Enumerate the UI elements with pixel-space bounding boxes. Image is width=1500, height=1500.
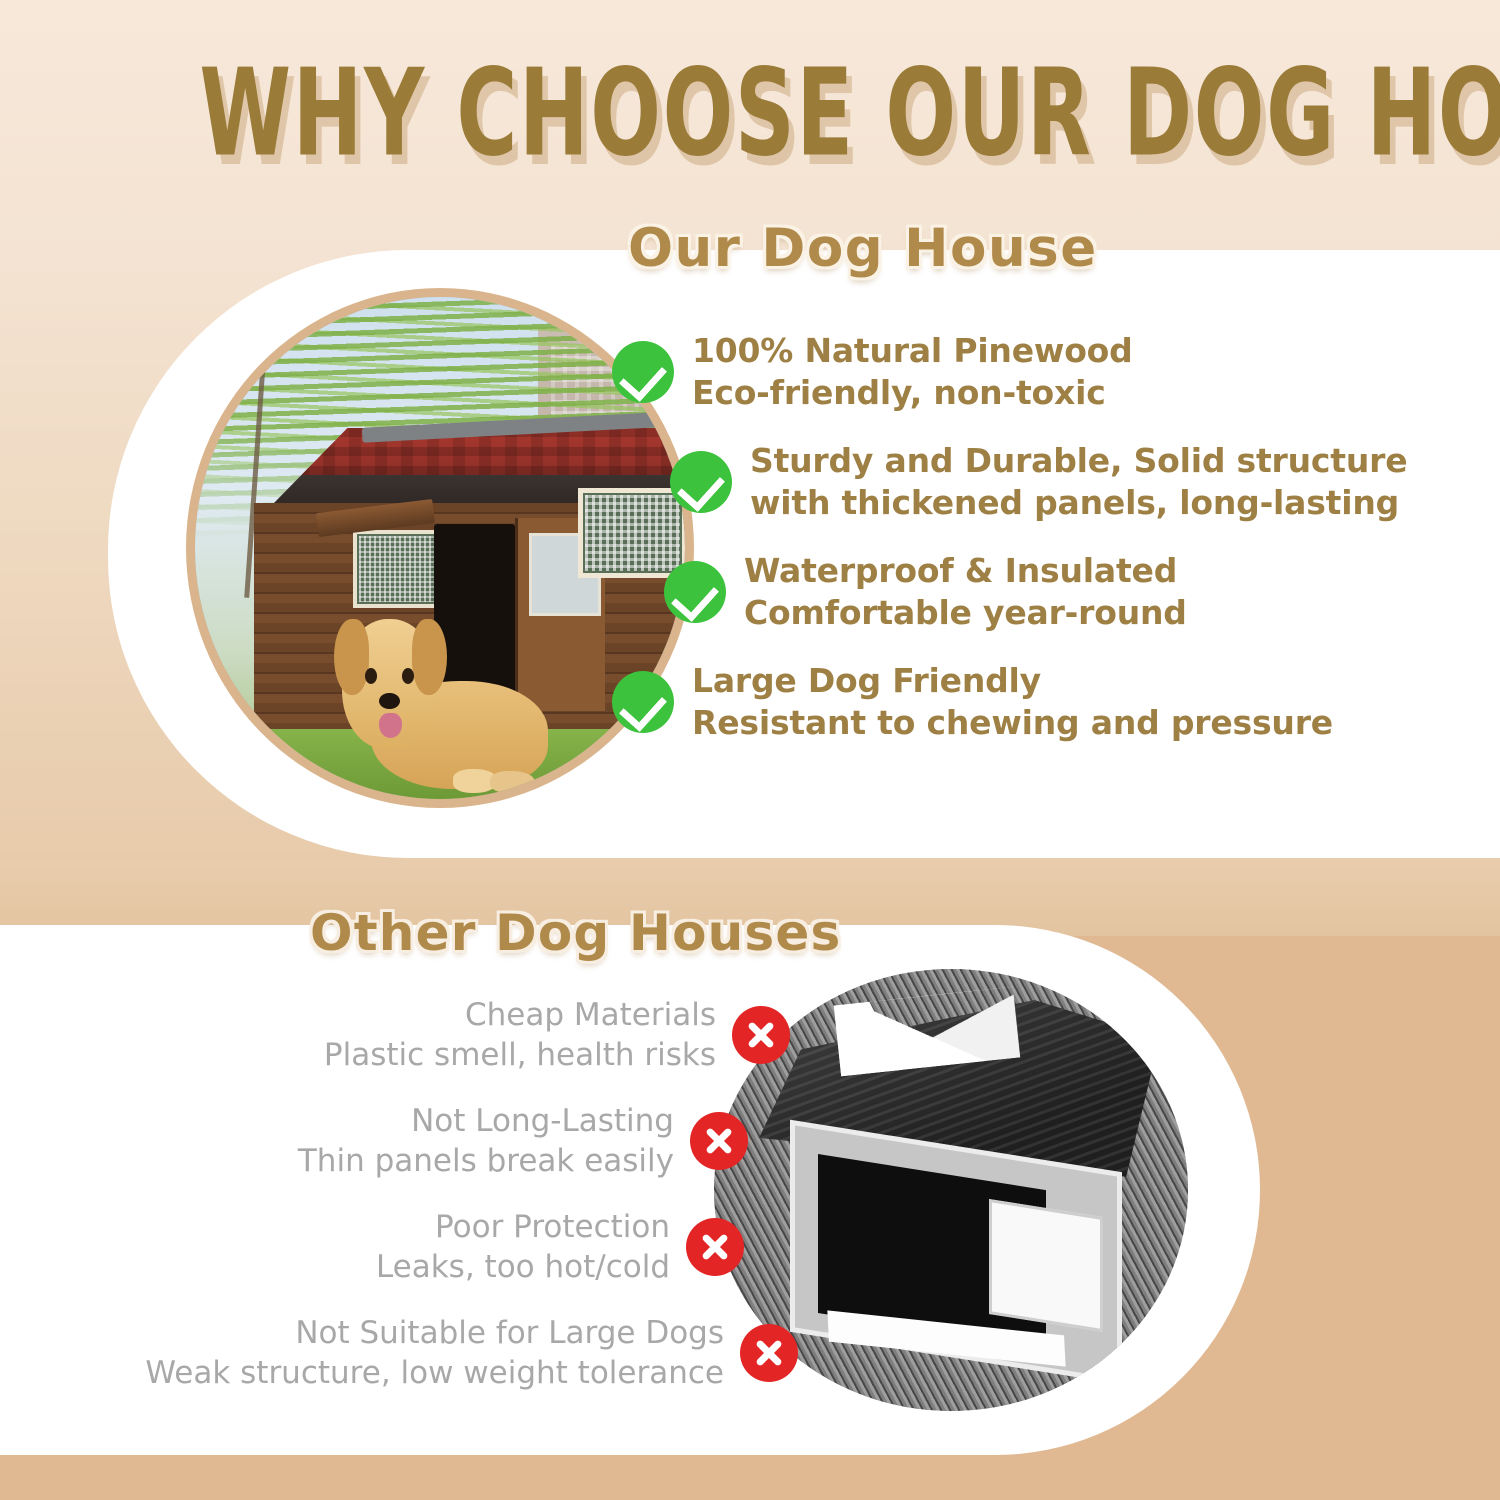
drawback-line-1: Not Long-Lasting	[411, 1103, 674, 1139]
our-dog-house-heading: Our Dog House	[628, 218, 1148, 288]
list-item: Sturdy and Durable, Solid structure with…	[612, 440, 1442, 524]
dog-eye-left	[365, 668, 377, 684]
list-item: Not Suitable for Large Dogs Weak structu…	[120, 1313, 820, 1393]
dog-ear-right	[412, 619, 447, 695]
check-icon	[664, 561, 726, 623]
page-title-text: WHY CHOOSE OUR DOG HOUSE?"	[199, 48, 1500, 178]
drawback-line-2: Thin panels break easily	[298, 1143, 674, 1179]
check-icon	[670, 451, 732, 513]
list-item: Large Dog Friendly Resistant to chewing …	[612, 660, 1442, 744]
dog-tongue	[379, 713, 402, 738]
other-drawbacks-list: Cheap Materials Plastic smell, health ri…	[120, 995, 820, 1393]
dog-paw-back	[490, 771, 535, 793]
benefit-line-2: Resistant to chewing and pressure	[692, 703, 1333, 742]
check-icon	[612, 671, 674, 733]
benefit-line-2: Comfortable year-round	[744, 593, 1187, 632]
x-icon	[732, 1006, 790, 1064]
benefit-line-1: Large Dog Friendly	[692, 661, 1041, 700]
benefit-line-2: Eco-friendly, non-toxic	[692, 373, 1106, 412]
list-item: Poor Protection Leaks, too hot/cold	[120, 1207, 820, 1287]
page-title: WHY CHOOSE OUR DOG HOUSE?"	[0, 48, 1500, 168]
benefit-line-1: Waterproof & Insulated	[744, 551, 1177, 590]
dog-ear-left	[334, 619, 369, 695]
benefit-text: 100% Natural Pinewood Eco-friendly, non-…	[692, 330, 1133, 414]
drawback-line-1: Cheap Materials	[465, 997, 716, 1033]
drawback-line-2: Weak structure, low weight tolerance	[145, 1355, 724, 1391]
our-benefits-list: 100% Natural Pinewood Eco-friendly, non-…	[612, 330, 1442, 744]
golden-retriever	[342, 608, 548, 789]
drawback-text: Poor Protection Leaks, too hot/cold	[376, 1207, 670, 1287]
list-item: Not Long-Lasting Thin panels break easil…	[120, 1101, 820, 1181]
other-dog-houses-heading: Other Dog Houses	[310, 903, 870, 973]
x-icon	[686, 1218, 744, 1276]
drawback-line-2: Leaks, too hot/cold	[376, 1249, 670, 1285]
x-icon	[690, 1112, 748, 1170]
drawback-text: Not Long-Lasting Thin panels break easil…	[298, 1101, 674, 1181]
list-item: 100% Natural Pinewood Eco-friendly, non-…	[612, 330, 1442, 414]
benefit-text: Sturdy and Durable, Solid structure with…	[750, 440, 1407, 524]
broken-panel	[989, 1199, 1103, 1332]
x-icon	[740, 1324, 798, 1382]
drawback-line-2: Plastic smell, health risks	[324, 1037, 716, 1073]
benefit-line-1: 100% Natural Pinewood	[692, 331, 1133, 370]
benefit-line-1: Sturdy and Durable, Solid structure	[750, 441, 1407, 480]
drawback-text: Cheap Materials Plastic smell, health ri…	[324, 995, 716, 1075]
benefit-text: Large Dog Friendly Resistant to chewing …	[692, 660, 1333, 744]
benefit-line-2: with thickened panels, long-lasting	[750, 483, 1399, 522]
list-item: Cheap Materials Plastic smell, health ri…	[120, 995, 820, 1075]
dog-eye-right	[402, 668, 414, 684]
dog-house-window-left	[353, 530, 443, 608]
benefit-text: Waterproof & Insulated Comfortable year-…	[744, 550, 1187, 634]
dog-nose	[379, 693, 400, 709]
drawback-line-1: Not Suitable for Large Dogs	[295, 1315, 724, 1351]
list-item: Waterproof & Insulated Comfortable year-…	[612, 550, 1442, 634]
check-icon	[612, 341, 674, 403]
drawback-line-1: Poor Protection	[435, 1209, 670, 1245]
drawback-text: Not Suitable for Large Dogs Weak structu…	[145, 1313, 724, 1393]
